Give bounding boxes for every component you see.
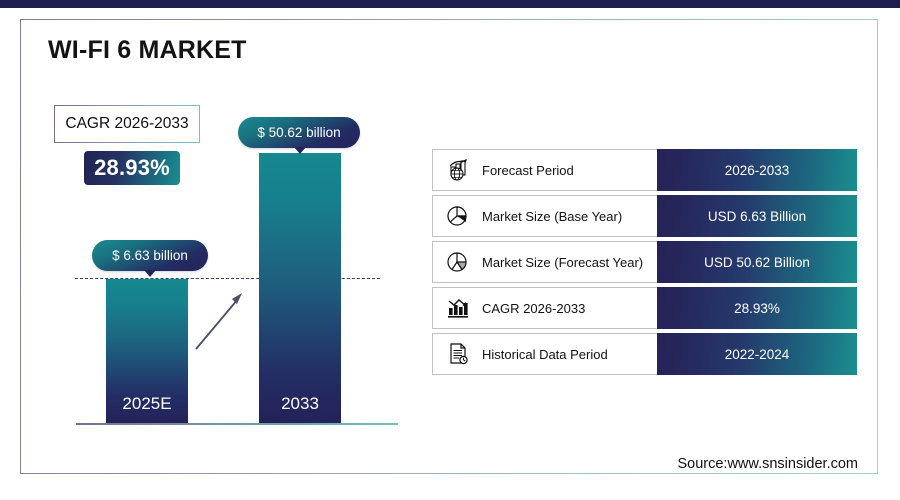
table-row: Forecast Period 2026-2033	[432, 149, 857, 191]
table-row-value-cell: 28.93%	[657, 287, 857, 329]
table-row-value: 2026-2033	[725, 163, 790, 178]
table-row-value: 28.93%	[734, 301, 780, 316]
bar-chart: 2025E 2033 $ 6.63 billion $ 50.62 billio…	[60, 120, 400, 440]
pie-chart-segments-icon	[443, 247, 473, 277]
table-row-label-cell: Market Size (Forecast Year)	[432, 241, 657, 283]
table-row: CAGR 2026-2033 28.93%	[432, 287, 857, 329]
bar-chart-trend-icon	[443, 293, 473, 323]
table-row-value-cell: 2022-2024	[657, 333, 857, 375]
value-pill-text-2025e: $ 6.63 billion	[112, 248, 188, 263]
table-row-label-cell: Historical Data Period	[432, 333, 657, 375]
table-row-value: 2022-2024	[725, 347, 790, 362]
table-row-value-cell: USD 50.62 Billion	[657, 241, 857, 283]
bar-2033	[259, 153, 341, 423]
document-clock-icon	[443, 339, 473, 369]
table-row: Market Size (Forecast Year) USD 50.62 Bi…	[432, 241, 857, 283]
source-attribution: Source:www.snsinsider.com	[677, 456, 858, 472]
table-row-label-cell: Forecast Period	[432, 149, 657, 191]
chart-baseline-axis	[76, 423, 398, 425]
value-pill-text-2033: $ 50.62 billion	[257, 125, 340, 140]
bar-category-label-2025e: 2025E	[106, 394, 188, 414]
pie-chart-exploded-icon	[443, 201, 473, 231]
value-pill-2033: $ 50.62 billion	[238, 117, 360, 148]
table-row-value: USD 50.62 Billion	[704, 255, 810, 270]
table-row-label-cell: Market Size (Base Year)	[432, 195, 657, 237]
table-row-label: Market Size (Base Year)	[482, 209, 622, 224]
value-pill-pointer-2033	[294, 147, 306, 154]
bar-category-label-2033: 2033	[259, 394, 341, 414]
page-title: WI-FI 6 MARKET	[48, 36, 247, 65]
table-row-value-cell: 2026-2033	[657, 149, 857, 191]
growth-arrow-icon	[190, 285, 250, 355]
table-row-label: CAGR 2026-2033	[482, 301, 585, 316]
table-row-label: Forecast Period	[482, 163, 574, 178]
top-accent-bar	[0, 0, 900, 8]
table-row-value: USD 6.63 Billion	[708, 209, 806, 224]
table-row-label: Historical Data Period	[482, 347, 608, 362]
table-row: Market Size (Base Year) USD 6.63 Billion	[432, 195, 857, 237]
value-pill-pointer-2025e	[144, 270, 156, 277]
table-row-label: Market Size (Forecast Year)	[482, 255, 643, 270]
table-row-label-cell: CAGR 2026-2033	[432, 287, 657, 329]
infographic-canvas: WI-FI 6 MARKET CAGR 2026-2033 28.93% 202…	[0, 0, 900, 500]
key-metrics-table: Forecast Period 2026-2033 Market Size (B	[432, 149, 857, 379]
globe-trend-chart-icon	[443, 155, 473, 185]
table-row: Historical Data Period 2022-2024	[432, 333, 857, 375]
table-row-value-cell: USD 6.63 Billion	[657, 195, 857, 237]
value-pill-2025e: $ 6.63 billion	[92, 240, 208, 271]
